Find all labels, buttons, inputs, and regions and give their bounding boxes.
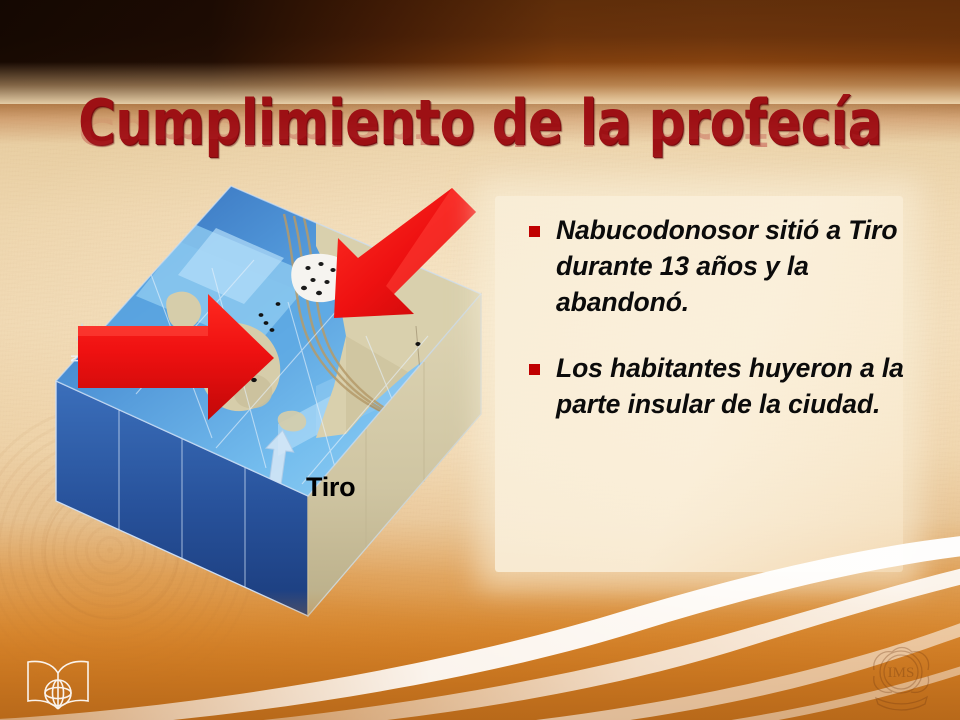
- bullet-spacer: [495, 320, 915, 350]
- bullet-text: Los habitantes huyeron a la parte insula…: [556, 350, 905, 422]
- city-label-tiro: Tiro: [306, 472, 355, 503]
- top-dark-band: [0, 0, 960, 104]
- list-item: Los habitantes huyeron a la parte insula…: [495, 350, 915, 422]
- page-title-reflection: Cumplimiento de la profecía: [38, 112, 921, 150]
- bullet-square-icon: [529, 226, 540, 237]
- bullet-list: Nabucodonosor sitió a Tiro durante 13 añ…: [495, 212, 915, 422]
- open-book-globe-logo: [20, 655, 96, 713]
- seal-text: IMS: [888, 665, 915, 681]
- bullet-text: Nabucodonosor sitió a Tiro durante 13 añ…: [556, 212, 905, 320]
- map-illustration: SW Swell N: [16, 176, 516, 636]
- page-title: Cumplimiento de la profecía: [38, 92, 921, 154]
- slide-title-area: Cumplimiento de la profecía: [0, 92, 960, 188]
- list-item: Nabucodonosor sitió a Tiro durante 13 añ…: [495, 212, 915, 320]
- slide-canvas: Cumplimiento de la profecía Cumplimiento…: [0, 0, 960, 720]
- bullet-square-icon: [529, 364, 540, 375]
- map-3d-block: SW Swell N Tiro: [16, 176, 516, 636]
- ims-seal-watermark: IMS: [862, 640, 940, 714]
